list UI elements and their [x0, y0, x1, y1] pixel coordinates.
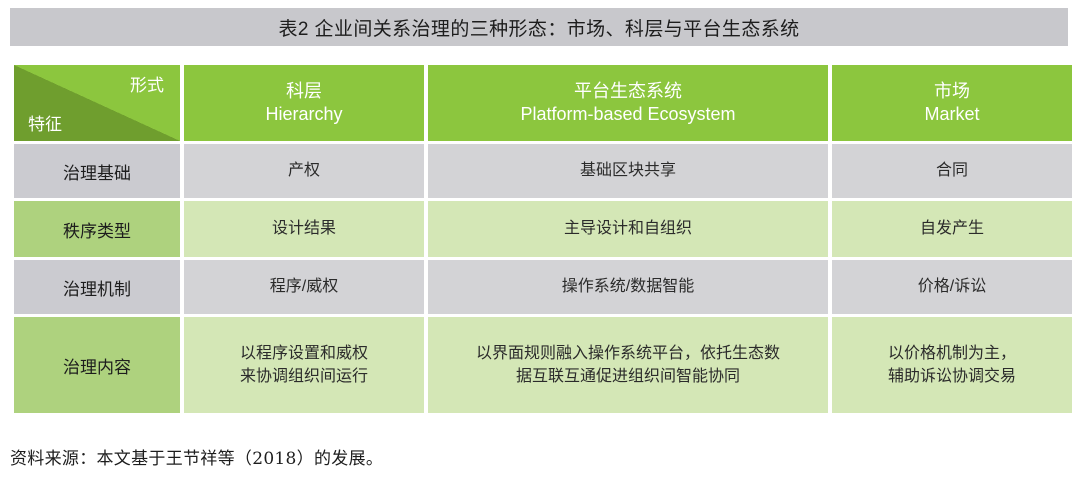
column-header-hierarchy-cn: 科层: [184, 80, 424, 103]
column-header-platform-en: Platform-based Ecosystem: [428, 103, 828, 126]
row-cell-hierarchy: 以程序设置和威权 来协调组织间运行: [184, 317, 424, 413]
source-note: 资料来源：本文基于王节祥等（2018）的发展。: [10, 444, 383, 469]
row-cell-market: 合同: [832, 144, 1072, 198]
row-feature-label: 治理内容: [14, 317, 180, 413]
row-cell-hierarchy: 产权: [184, 144, 424, 198]
row-cell-hierarchy: 程序/威权: [184, 260, 424, 314]
table-header-row: 形式 特征 科层 Hierarchy 平台生态系统 Platform-based…: [14, 65, 1072, 141]
column-header-platform: 平台生态系统 Platform-based Ecosystem: [428, 65, 828, 141]
row-feature-label: 治理基础: [14, 144, 180, 198]
row-cell-market: 自发产生: [832, 201, 1072, 257]
row-cell-platform: 操作系统/数据智能: [428, 260, 828, 314]
row-cell-market-text: 以价格机制为主， 辅助诉讼协调交易: [888, 342, 1016, 388]
table-row: 治理基础 产权 基础区块共享 合同: [14, 144, 1072, 198]
row-cell-platform-text: 以界面规则融入操作系统平台，依托生态数 据互联互通促进组织间智能协同: [476, 342, 780, 388]
column-header-market-en: Market: [832, 103, 1072, 126]
table-row: 治理机制 程序/威权 操作系统/数据智能 价格/诉讼: [14, 260, 1072, 314]
row-cell-hierarchy-text: 以程序设置和威权 来协调组织间运行: [240, 342, 368, 388]
row-cell-market: 以价格机制为主， 辅助诉讼协调交易: [832, 317, 1072, 413]
governance-comparison-table: 形式 特征 科层 Hierarchy 平台生态系统 Platform-based…: [10, 62, 1076, 416]
table-row: 治理内容 以程序设置和威权 来协调组织间运行 以界面规则融入操作系统平台，依托生…: [14, 317, 1072, 413]
header-corner-cell: 形式 特征: [14, 65, 180, 141]
table-row: 秩序类型 设计结果 主导设计和自组织 自发产生: [14, 201, 1072, 257]
table-title-bar: 表2 企业间关系治理的三种形态：市场、科层与平台生态系统: [10, 8, 1068, 46]
row-feature-label: 秩序类型: [14, 201, 180, 257]
header-corner-form-label: 形式: [130, 71, 164, 96]
column-header-hierarchy-en: Hierarchy: [184, 103, 424, 126]
column-header-platform-cn: 平台生态系统: [428, 80, 828, 103]
page-title: 表2 企业间关系治理的三种形态：市场、科层与平台生态系统: [278, 14, 799, 41]
table-figure: 表2 企业间关系治理的三种形态：市场、科层与平台生态系统 形式 特征 科层 Hi…: [0, 0, 1080, 480]
row-feature-label: 治理机制: [14, 260, 180, 314]
row-cell-platform: 以界面规则融入操作系统平台，依托生态数 据互联互通促进组织间智能协同: [428, 317, 828, 413]
row-cell-platform: 主导设计和自组织: [428, 201, 828, 257]
row-cell-market: 价格/诉讼: [832, 260, 1072, 314]
column-header-market: 市场 Market: [832, 65, 1072, 141]
column-header-hierarchy: 科层 Hierarchy: [184, 65, 424, 141]
row-cell-hierarchy: 设计结果: [184, 201, 424, 257]
row-cell-platform: 基础区块共享: [428, 144, 828, 198]
column-header-market-cn: 市场: [832, 80, 1072, 103]
header-corner-feature-label: 特征: [28, 110, 62, 135]
